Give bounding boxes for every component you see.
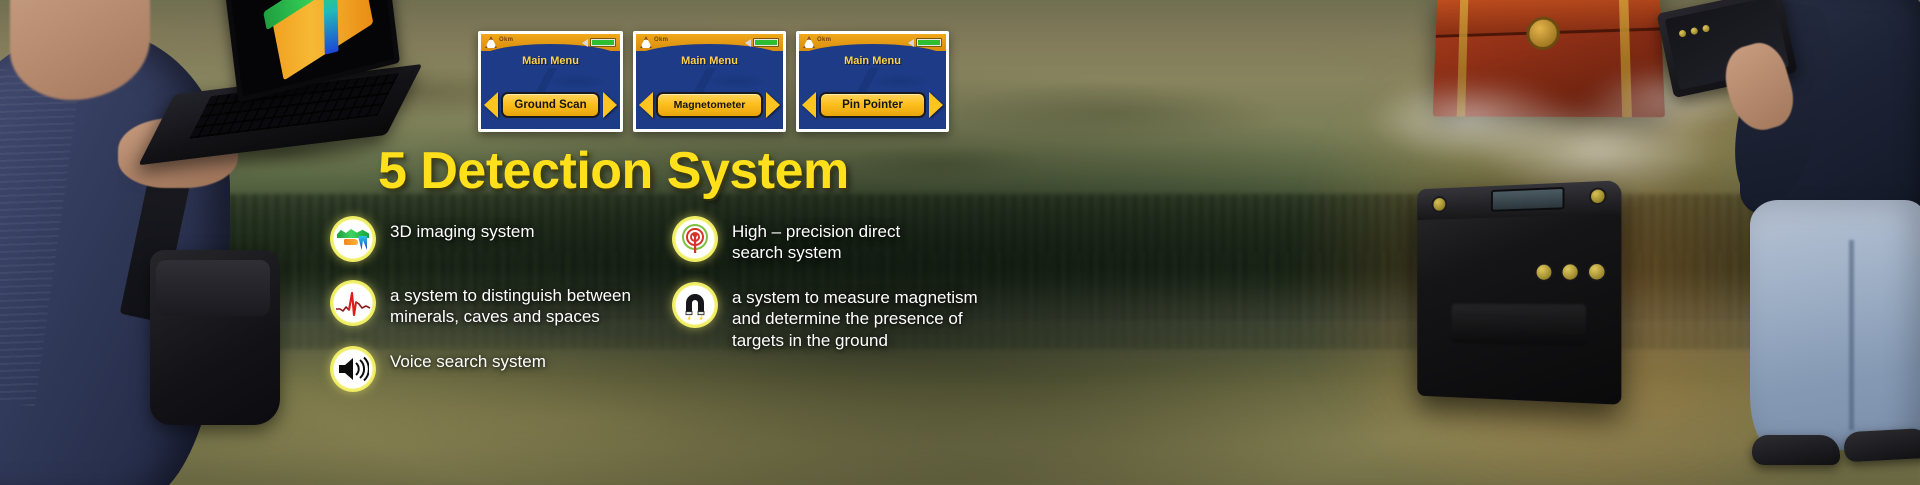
detector-button-3[interactable] [1587, 262, 1607, 282]
mode-selector-row[interactable]: Magnetometer [639, 92, 780, 118]
detector-button-1[interactable] [1535, 263, 1554, 282]
battery-icon [916, 38, 942, 47]
tablet-button-2[interactable] [1690, 27, 1698, 35]
screen-brand-label: Okm [654, 37, 668, 43]
battery-fill [755, 40, 777, 45]
feature-list-right: High – precision direct search system a … [672, 216, 1032, 369]
jeans-leg-separation [1849, 240, 1854, 430]
ecg-waveform-svg [335, 289, 371, 317]
battery-fill [592, 40, 614, 45]
bag-flap [156, 260, 270, 316]
feature-item-magnetism: a system to measure magnetism and determ… [672, 282, 1032, 351]
speaker-icon [745, 39, 751, 47]
feature-label: High – precision direct search system [732, 216, 900, 264]
tablet-button-1[interactable] [1678, 29, 1686, 37]
screen-title: Main Menu [799, 55, 946, 67]
mode-selector-row[interactable]: Ground Scan [484, 92, 617, 118]
person-right-jeans [1750, 200, 1920, 450]
tablet-button-3[interactable] [1701, 24, 1709, 32]
detector-knob-left[interactable] [1432, 196, 1447, 213]
right-scene-detector-operator [1300, 0, 1920, 485]
prev-mode-arrow-icon[interactable] [639, 92, 653, 118]
speaker-icon-svg [337, 356, 369, 382]
prev-mode-arrow-icon[interactable] [484, 92, 498, 118]
detector-button-group[interactable] [1535, 262, 1607, 282]
feature-label: a system to measure magnetism and determ… [732, 282, 978, 351]
magnet-icon [672, 282, 718, 328]
antenna-signal-icon [672, 216, 718, 262]
person-right-shoe-left [1752, 435, 1840, 465]
antenna-signal-svg [679, 224, 711, 254]
battery-indicator [582, 38, 616, 47]
battery-fill [918, 40, 940, 45]
selected-mode-label[interactable]: Magnetometer [656, 92, 763, 118]
feature-label: a system to distinguish between minerals… [390, 280, 631, 328]
next-mode-arrow-icon[interactable] [766, 92, 780, 118]
device-screen-magnetometer[interactable]: Okm Main Menu Magnetometer [633, 31, 786, 132]
mode-selector-row[interactable]: Pin Pointer [802, 92, 943, 118]
detector-button-2[interactable] [1560, 262, 1579, 282]
screen-title: Main Menu [481, 55, 620, 67]
selected-mode-label[interactable]: Ground Scan [501, 92, 600, 118]
screen-brand-label: Okm [499, 37, 513, 43]
selected-mode-label[interactable]: Pin Pointer [819, 92, 926, 118]
screen-title: Main Menu [636, 55, 783, 67]
shirt-seam [0, 63, 80, 406]
detector-lcd-display [1491, 187, 1565, 212]
battery-icon [753, 38, 779, 47]
device-screen-ground-scan[interactable]: Okm Main Menu Ground Scan [478, 31, 623, 132]
detector-control-unit [1417, 180, 1621, 405]
detection-system-banner: Okm Main Menu Ground Scan Okm [0, 0, 1920, 485]
person-right-shoe-right [1843, 428, 1920, 463]
battery-icon [590, 38, 616, 47]
feature-item-direct-search: High – precision direct search system [672, 216, 1032, 264]
feature-list-left: 3D imaging system a system to distinguis… [330, 216, 670, 410]
scan-anomaly-blue [323, 0, 338, 56]
battery-indicator [908, 38, 942, 47]
feature-item-voice-search: Voice search system [330, 346, 670, 392]
shoulder-bag [150, 250, 280, 425]
next-mode-arrow-icon[interactable] [929, 92, 943, 118]
feature-label: 3D imaging system [390, 216, 535, 242]
feature-label: Voice search system [390, 346, 546, 372]
magnet-icon-svg [679, 290, 711, 320]
device-screen-pin-pointer[interactable]: Okm Main Menu Pin Pointer [796, 31, 949, 132]
battery-indicator [745, 38, 779, 47]
page-title: 5 Detection System [378, 141, 849, 201]
feature-item-mineral-discrimination: a system to distinguish between minerals… [330, 280, 670, 328]
speaker-icon [908, 39, 914, 47]
speaker-icon [330, 346, 376, 392]
ecg-waveform-icon [330, 280, 376, 326]
detector-logo-emboss [1452, 304, 1587, 346]
terrain-3d-icon [330, 216, 376, 262]
device-screen-gallery: Okm Main Menu Ground Scan Okm [478, 31, 949, 132]
feature-item-3d-imaging: 3D imaging system [330, 216, 670, 262]
person-right-operator [1690, 0, 1920, 485]
screen-brand-label: Okm [817, 37, 831, 43]
detector-knob-right[interactable] [1589, 187, 1607, 205]
prev-mode-arrow-icon[interactable] [802, 92, 816, 118]
next-mode-arrow-icon[interactable] [603, 92, 617, 118]
laptop [141, 0, 410, 171]
speaker-icon [582, 39, 588, 47]
